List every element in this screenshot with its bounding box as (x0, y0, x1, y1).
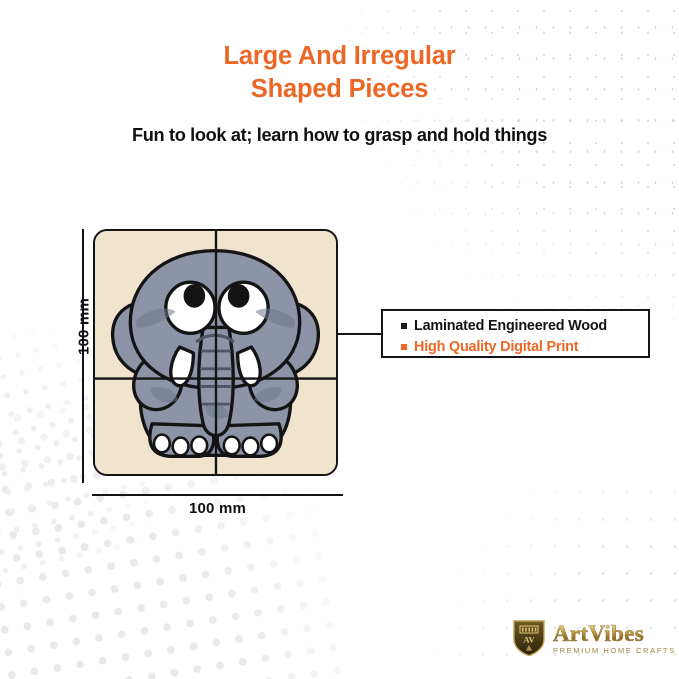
page-title-line-1: Large And Irregular (0, 40, 679, 73)
dimension-label-height: 100 mm (76, 287, 93, 367)
infographic-canvas: Large And Irregular Shaped Pieces Fun to… (0, 0, 679, 679)
elephant-pupil-left (184, 284, 206, 308)
materials-callout: Laminated Engineered Wood High Quality D… (381, 309, 650, 358)
brand-tagline: PREMIUM HOME CRAFTS (553, 647, 676, 655)
callout-item: Laminated Engineered Wood (401, 315, 648, 336)
callout-leader-line (338, 333, 382, 335)
callout-item-label: High Quality Digital Print (414, 339, 578, 355)
brand-logo: AV ArtVibes PREMIUM HOME CRAFTS (512, 619, 676, 657)
callout-item: High Quality Digital Print (401, 336, 648, 357)
elephant-pupil-right (228, 284, 250, 308)
puzzle-board (93, 229, 338, 476)
dimension-label-width: 100 mm (92, 500, 343, 517)
callout-item-label: Laminated Engineered Wood (414, 318, 607, 334)
page-title-line-2: Shaped Pieces (0, 73, 679, 106)
bullet-square-icon (401, 323, 407, 329)
dimension-line-horizontal (92, 494, 343, 496)
bullet-square-icon (401, 344, 407, 350)
shield-icon: AV (512, 619, 546, 657)
elephant-illustration (95, 231, 336, 474)
brand-monogram: AV (523, 635, 535, 645)
page-subtitle: Fun to look at; learn how to grasp and h… (0, 125, 679, 146)
page-title: Large And Irregular Shaped Pieces (0, 40, 679, 106)
brand-name: ArtVibes (553, 622, 676, 645)
